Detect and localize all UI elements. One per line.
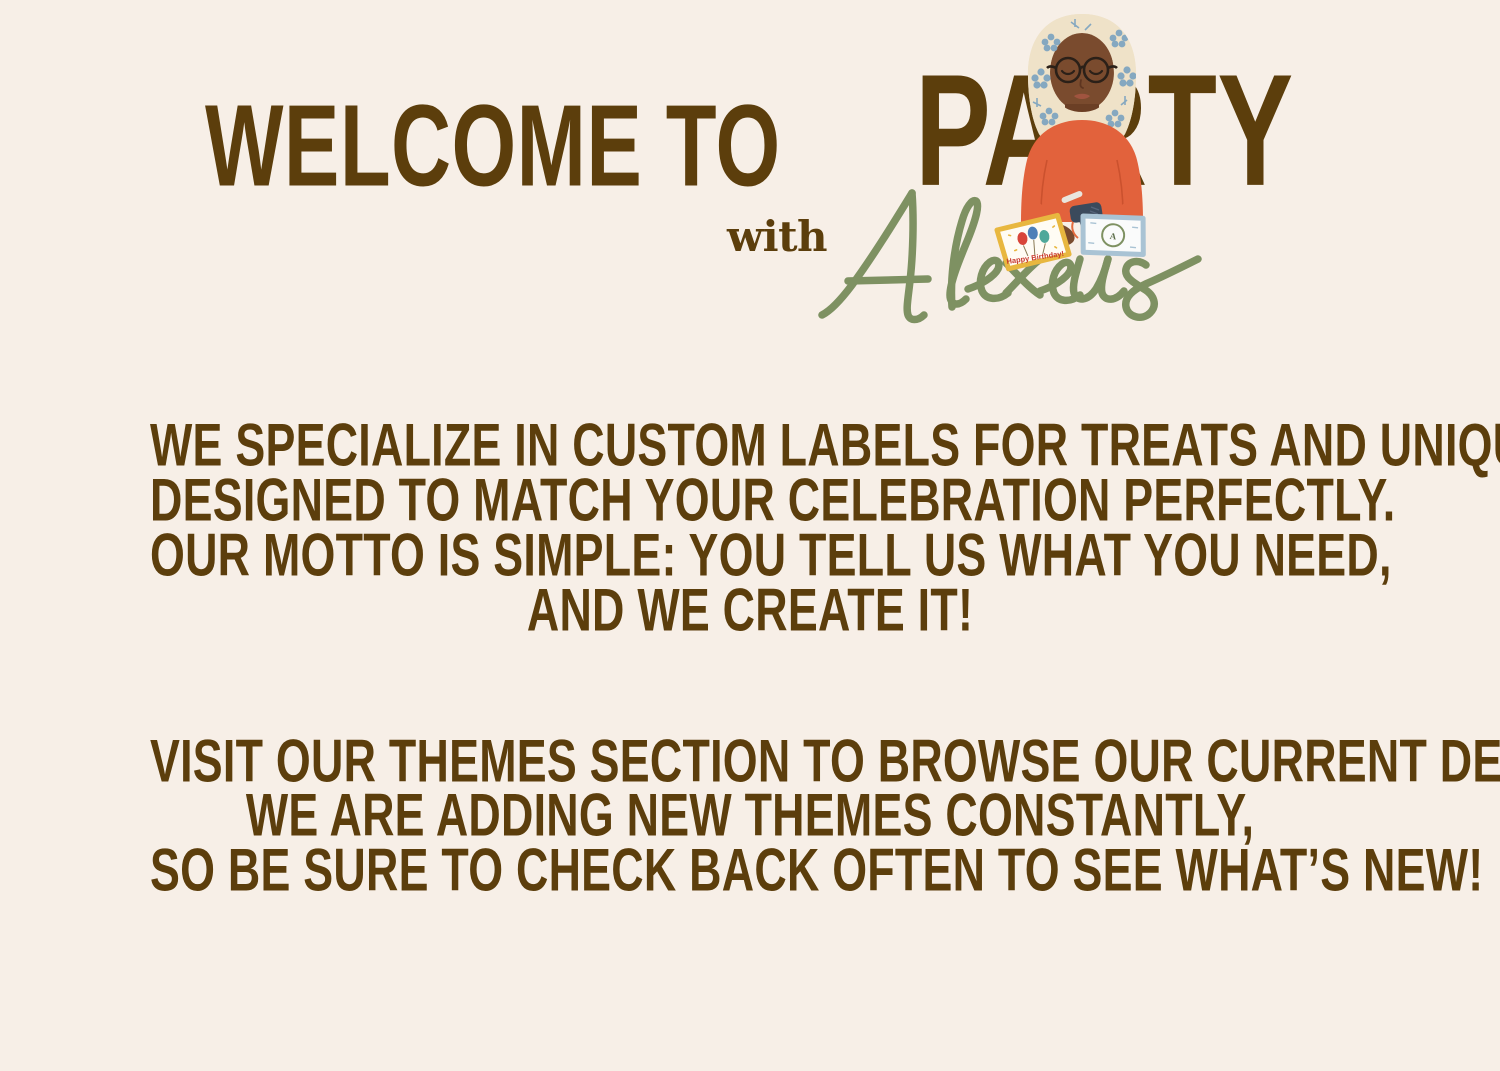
headline: WELCOME TO PARTY bbox=[205, 74, 1388, 205]
headline-welcome-to: WELCOME TO bbox=[205, 94, 781, 201]
body-copy: WE SPECIALIZE IN CUSTOM LABELS FOR TREAT… bbox=[0, 418, 1500, 898]
page-root: WELCOME TO PARTY with Alexeus bbox=[0, 0, 1500, 1071]
illustration-crafting-woman: Illustration of a woman wearing a floral… bbox=[975, 8, 1190, 273]
headline-block: WELCOME TO PARTY with Alexeus bbox=[0, 0, 1500, 330]
paragraph-themes: VISIT OUR THEMES SECTION TO BROWSE OUR C… bbox=[0, 734, 1500, 899]
copy-line: AND WE CREATE IT! bbox=[150, 580, 1350, 639]
copy-line: SO BE SURE TO CHECK BACK OFTEN TO SEE WH… bbox=[150, 841, 1350, 900]
headline-with-word: with bbox=[727, 216, 827, 258]
paragraph-about: WE SPECIALIZE IN CUSTOM LABELS FOR TREAT… bbox=[0, 418, 1500, 638]
